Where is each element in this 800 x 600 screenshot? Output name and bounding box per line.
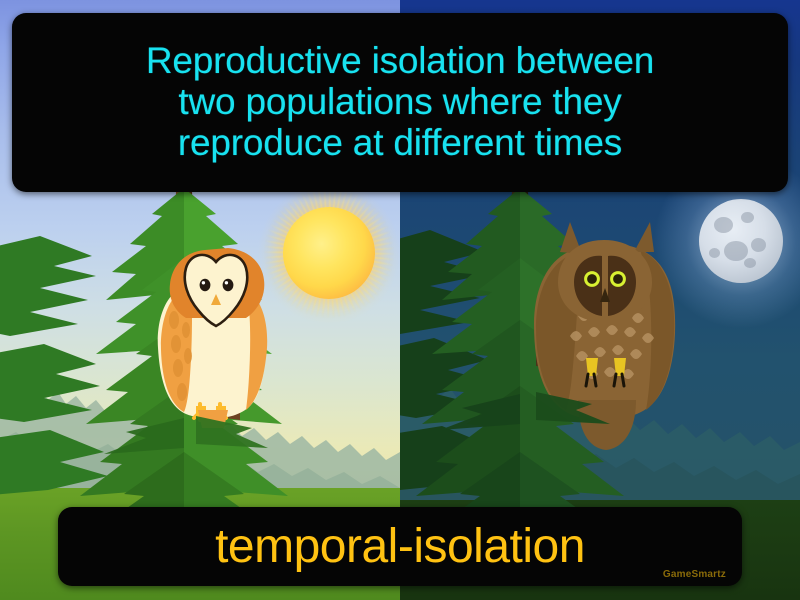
- watermark: GameSmartz: [663, 569, 726, 580]
- definition-text: Reproductive isolation between two popul…: [146, 41, 654, 163]
- flashcard-image: Reproductive isolation between two popul…: [0, 0, 800, 600]
- barn-owl-eye-left: [200, 279, 211, 291]
- definition-panel: Reproductive isolation between two popul…: [12, 13, 788, 192]
- day-background-foliage: [0, 236, 108, 496]
- great-horned-owl-ear-tuft-right: [634, 222, 654, 252]
- barn-owl-eye-right: [223, 279, 234, 291]
- term-text: temporal-isolation: [215, 523, 585, 571]
- great-horned-owl-tail: [578, 400, 636, 450]
- term-panel: temporal-isolation GameSmartz: [58, 507, 742, 586]
- great-horned-owl-head: [558, 240, 652, 322]
- barn-owl: [158, 248, 267, 428]
